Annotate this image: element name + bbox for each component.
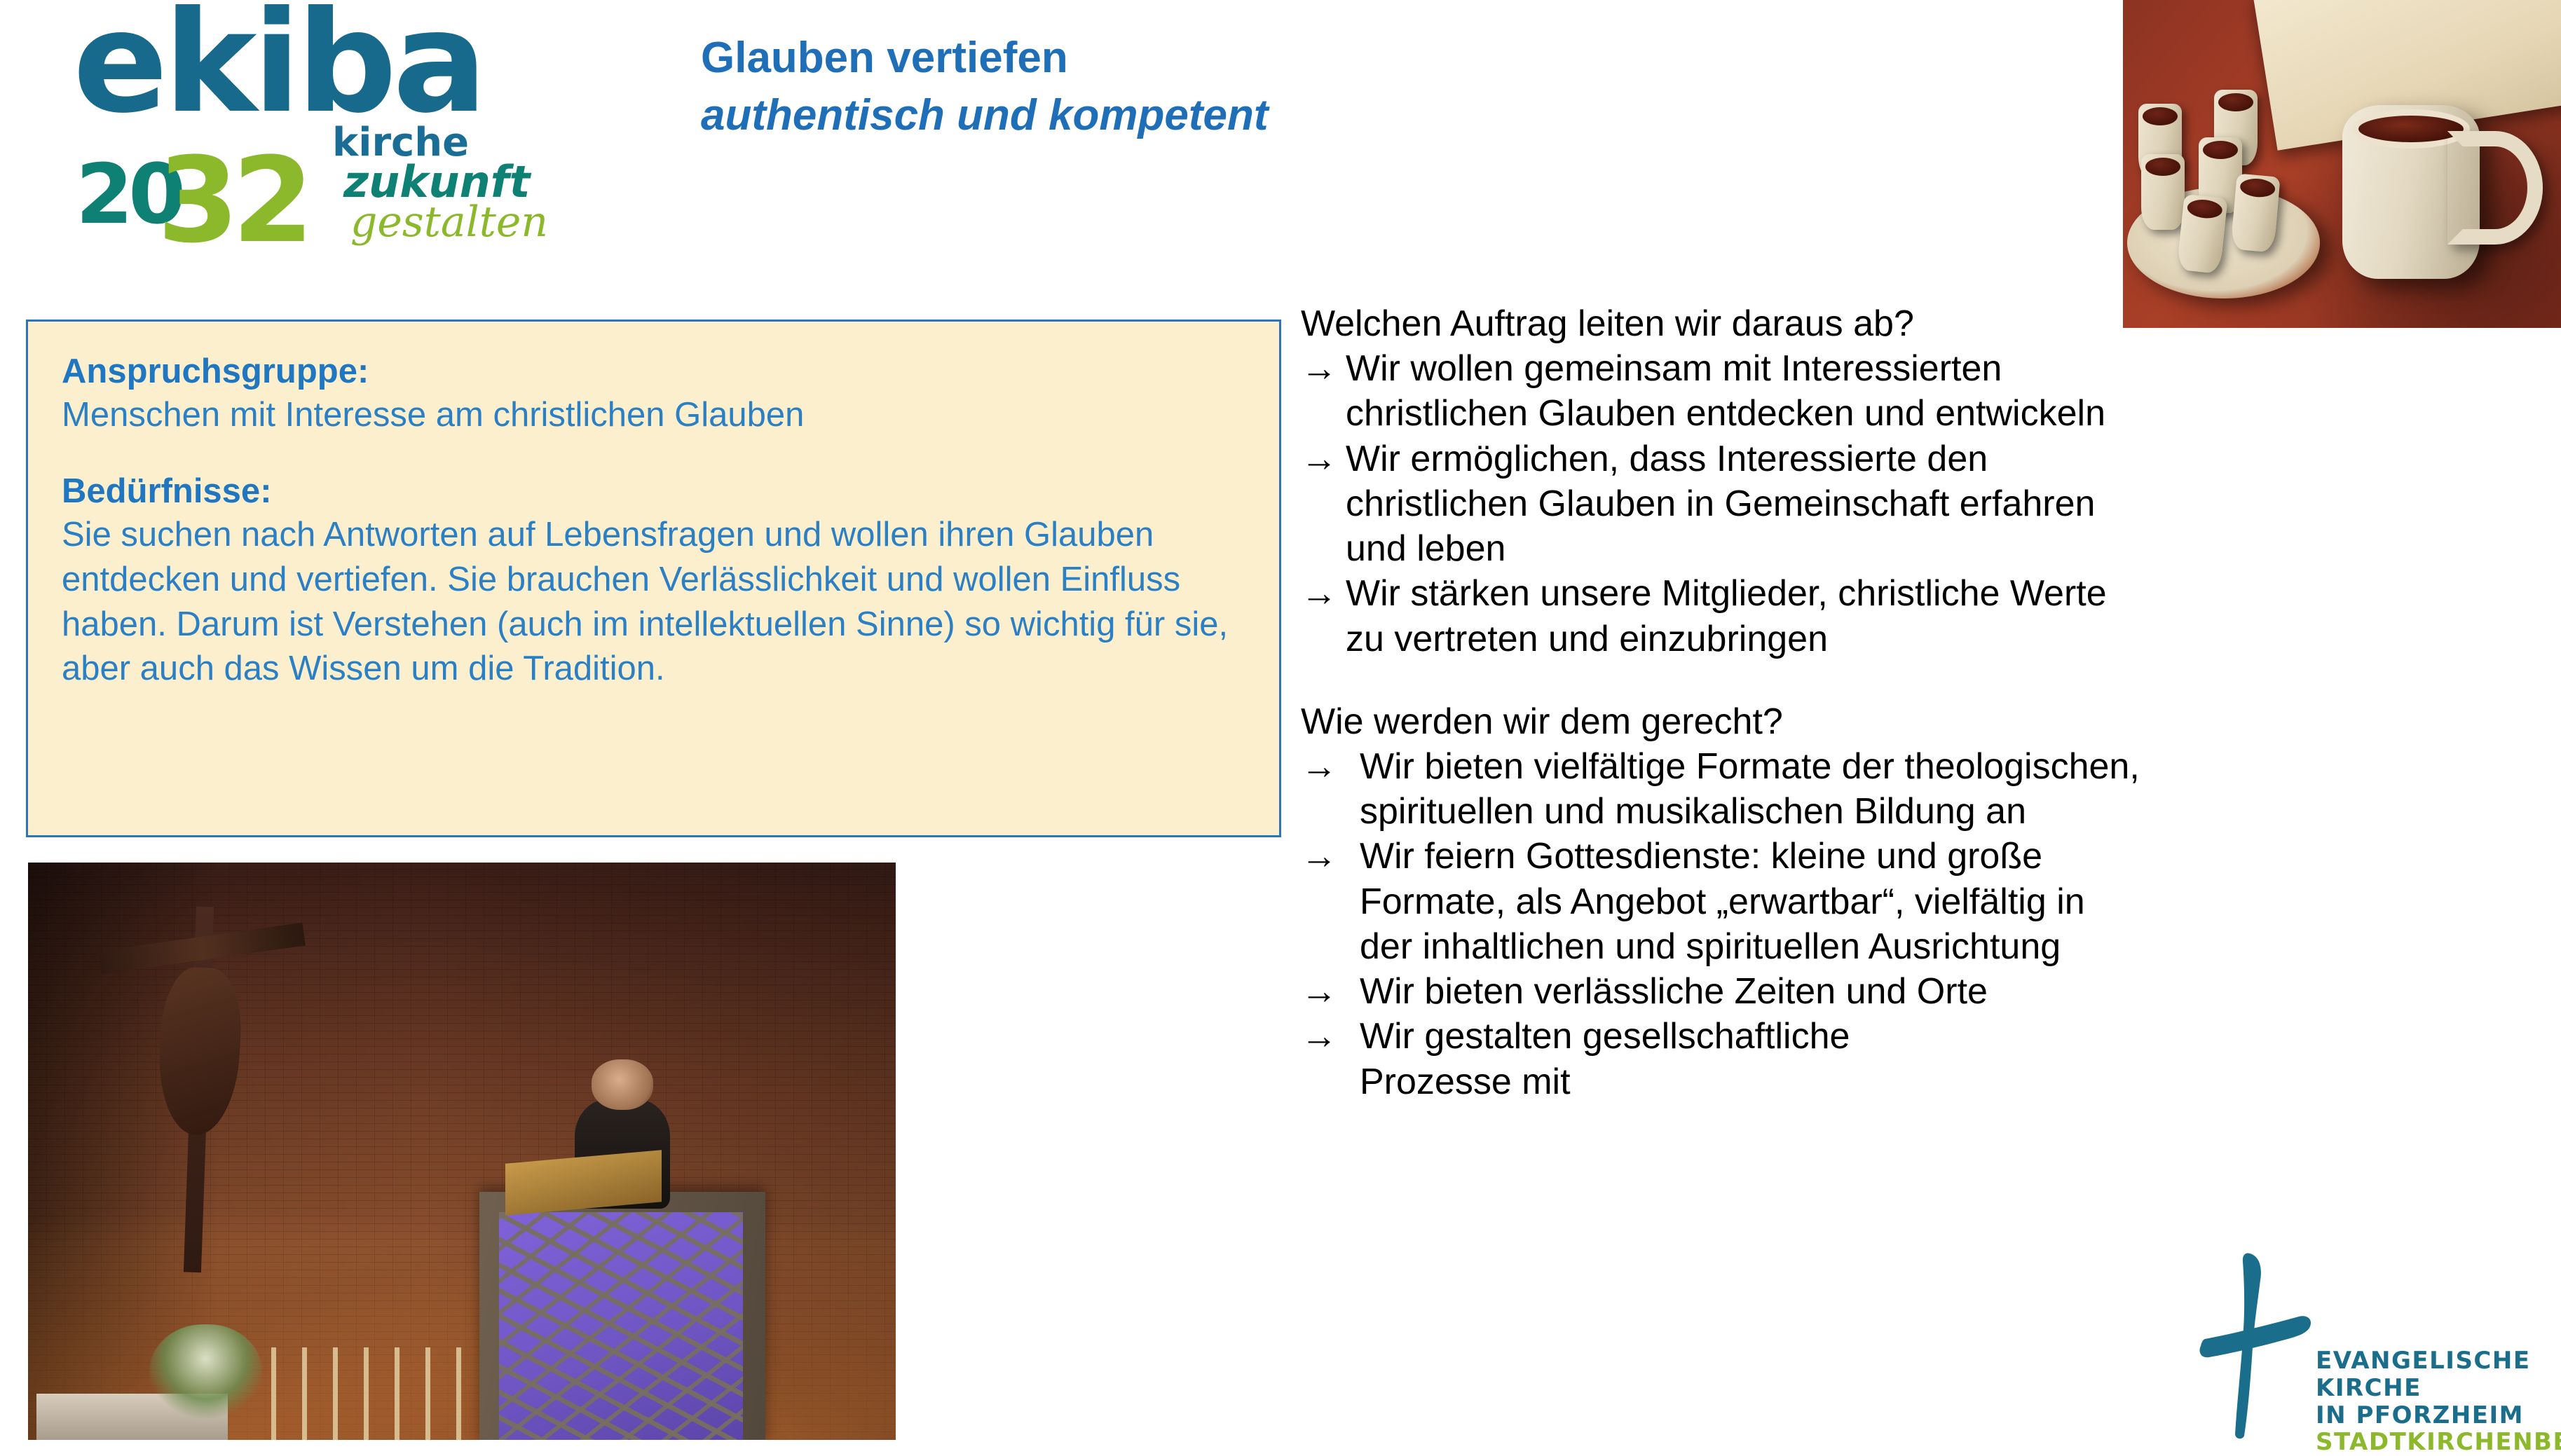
needs-label: Bedürfnisse xyxy=(62,472,260,510)
slide-title: Glauben vertiefen authentisch und kompet… xyxy=(701,29,1268,144)
communion-cup xyxy=(2141,154,2185,230)
ekiba-year-2032: 2032 xyxy=(76,123,307,241)
pulpit-decorative-panel xyxy=(499,1212,742,1440)
needs-heading: Bedürfnisse: xyxy=(62,471,1245,513)
ekiba-claim-line3: gestalten xyxy=(350,202,548,242)
list-item-line: Formate, als Angebot „erwartbar“, vielfä… xyxy=(1355,879,2534,924)
list-item-line: Wir feiern Gottesdienste: kleine und gro… xyxy=(1355,834,2534,879)
arrow-icon: → xyxy=(1301,346,1337,391)
list-item: → Wir bieten verlässliche Zeiten und Ort… xyxy=(1301,969,2534,1014)
content-right-column: Welchen Auftrag leiten wir daraus ab? → … xyxy=(1301,301,2534,1104)
arrow-icon: → xyxy=(1301,834,1337,879)
arrow-icon: → xyxy=(1301,969,1337,1014)
arrow-icon: → xyxy=(1301,1014,1337,1059)
slide-title-sub: authentisch und kompetent xyxy=(701,87,1268,144)
slide-title-main: Glauben vertiefen xyxy=(701,34,1068,82)
list-item: → Wir wollen gemeinsam mit Interessierte… xyxy=(1301,346,2534,436)
crucifix-sculpture xyxy=(106,891,296,1272)
pitcher-handle xyxy=(2447,131,2543,245)
list-item-line: Wir ermöglichen, dass Interessierte den xyxy=(1346,437,2534,481)
arrow-icon: → xyxy=(1301,744,1337,789)
list-item-line: christlichen Glauben in Gemeinschaft erf… xyxy=(1346,481,2534,526)
communion-set-photo xyxy=(2123,0,2561,328)
communion-cup xyxy=(2230,174,2280,253)
target-group-heading: Anspruchsgruppe: xyxy=(62,351,1245,393)
flower-arrangement xyxy=(149,1324,262,1422)
list-item-line: zu vertreten und einzubringen xyxy=(1346,617,2534,661)
church-interior-photo xyxy=(28,863,896,1440)
list-item-line: christlichen Glauben entdecken und entwi… xyxy=(1346,391,2534,436)
list-item: → Wir gestalten gesellschaftliche Prozes… xyxy=(1301,1014,2534,1104)
target-group-text: Menschen mit Interesse am christlichen G… xyxy=(62,393,1245,438)
mission-block: Welchen Auftrag leiten wir daraus ab? → … xyxy=(1301,301,2534,661)
list-item: → Wir stärken unsere Mitglieder, christl… xyxy=(1301,571,2534,661)
list-item-line: Wir bieten verlässliche Zeiten und Orte xyxy=(1355,969,2534,1014)
target-group-section: Anspruchsgruppe: Menschen mit Interesse … xyxy=(62,351,1245,437)
ekiba-logo: ekiba 2032 kirche zukunft gestalten xyxy=(70,6,526,251)
list-item-line: Wir wollen gemeinsam mit Interessierten xyxy=(1346,346,2534,391)
list-item-line: Wir stärken unsere Mitglieder, christlic… xyxy=(1346,571,2534,616)
list-item-line: Wir gestalten gesellschaftliche xyxy=(1355,1014,2534,1059)
church-logo-line2: IN PFORZHEIM xyxy=(2316,1402,2561,1429)
pastor-head xyxy=(592,1059,653,1110)
candle-row xyxy=(271,1347,479,1440)
pulpit xyxy=(479,1192,766,1440)
church-logo-line3: STADTKIRCHENBEZIRK xyxy=(2316,1429,2561,1456)
ekiba-claim: kirche zukunft gestalten xyxy=(332,125,548,242)
list-item-line: spirituellen und musikalischen Bildung a… xyxy=(1355,789,2534,834)
list-item-line: Prozesse mit xyxy=(1355,1059,2534,1104)
ekiba-year-right: 32 xyxy=(157,142,307,259)
evangelische-kirche-pforzheim-logo: EVANGELISCHE KIRCHE IN PFORZHEIM STADTKI… xyxy=(2192,1249,2557,1440)
needs-colon: : xyxy=(260,472,271,510)
list-item: → Wir ermöglichen, dass Interessierte de… xyxy=(1301,437,2534,572)
list-item: → Wir feiern Gottesdienste: kleine und g… xyxy=(1301,834,2534,969)
mission-question: Welchen Auftrag leiten wir daraus ab? xyxy=(1301,301,2534,346)
audience-info-box: Anspruchsgruppe: Menschen mit Interesse … xyxy=(26,320,1281,837)
ekiba-wordmark: ekiba xyxy=(73,0,483,133)
arrow-icon: → xyxy=(1301,571,1337,616)
needs-text: Sie suchen nach Antworten auf Lebensfrag… xyxy=(62,513,1245,692)
list-item-line: und leben xyxy=(1346,526,2534,571)
list-item-line: Wir bieten vielfältige Formate der theol… xyxy=(1355,744,2534,789)
arrow-icon: → xyxy=(1301,437,1337,481)
target-group-label: Anspruchsgruppe xyxy=(62,352,357,390)
needs-section: Bedürfnisse: Sie suchen nach Antworten a… xyxy=(62,471,1245,692)
ekiba-claim-line2: zukunft xyxy=(343,162,548,202)
target-group-colon: : xyxy=(357,352,369,390)
mission-list: → Wir wollen gemeinsam mit Interessierte… xyxy=(1301,346,2534,661)
list-item-line: der inhaltlichen und spirituellen Ausric… xyxy=(1355,924,2534,969)
implementation-question: Wie werden wir dem gerecht? xyxy=(1301,699,2534,744)
church-logo-line1: EVANGELISCHE KIRCHE xyxy=(2316,1347,2561,1402)
crucifix-figure xyxy=(155,966,244,1137)
cross-icon xyxy=(2192,1249,2330,1440)
implementation-list: → Wir bieten vielfältige Formate der the… xyxy=(1301,744,2534,1104)
implementation-block: Wie werden wir dem gerecht? → Wir bieten… xyxy=(1301,699,2534,1104)
list-item: → Wir bieten vielfältige Formate der the… xyxy=(1301,744,2534,834)
